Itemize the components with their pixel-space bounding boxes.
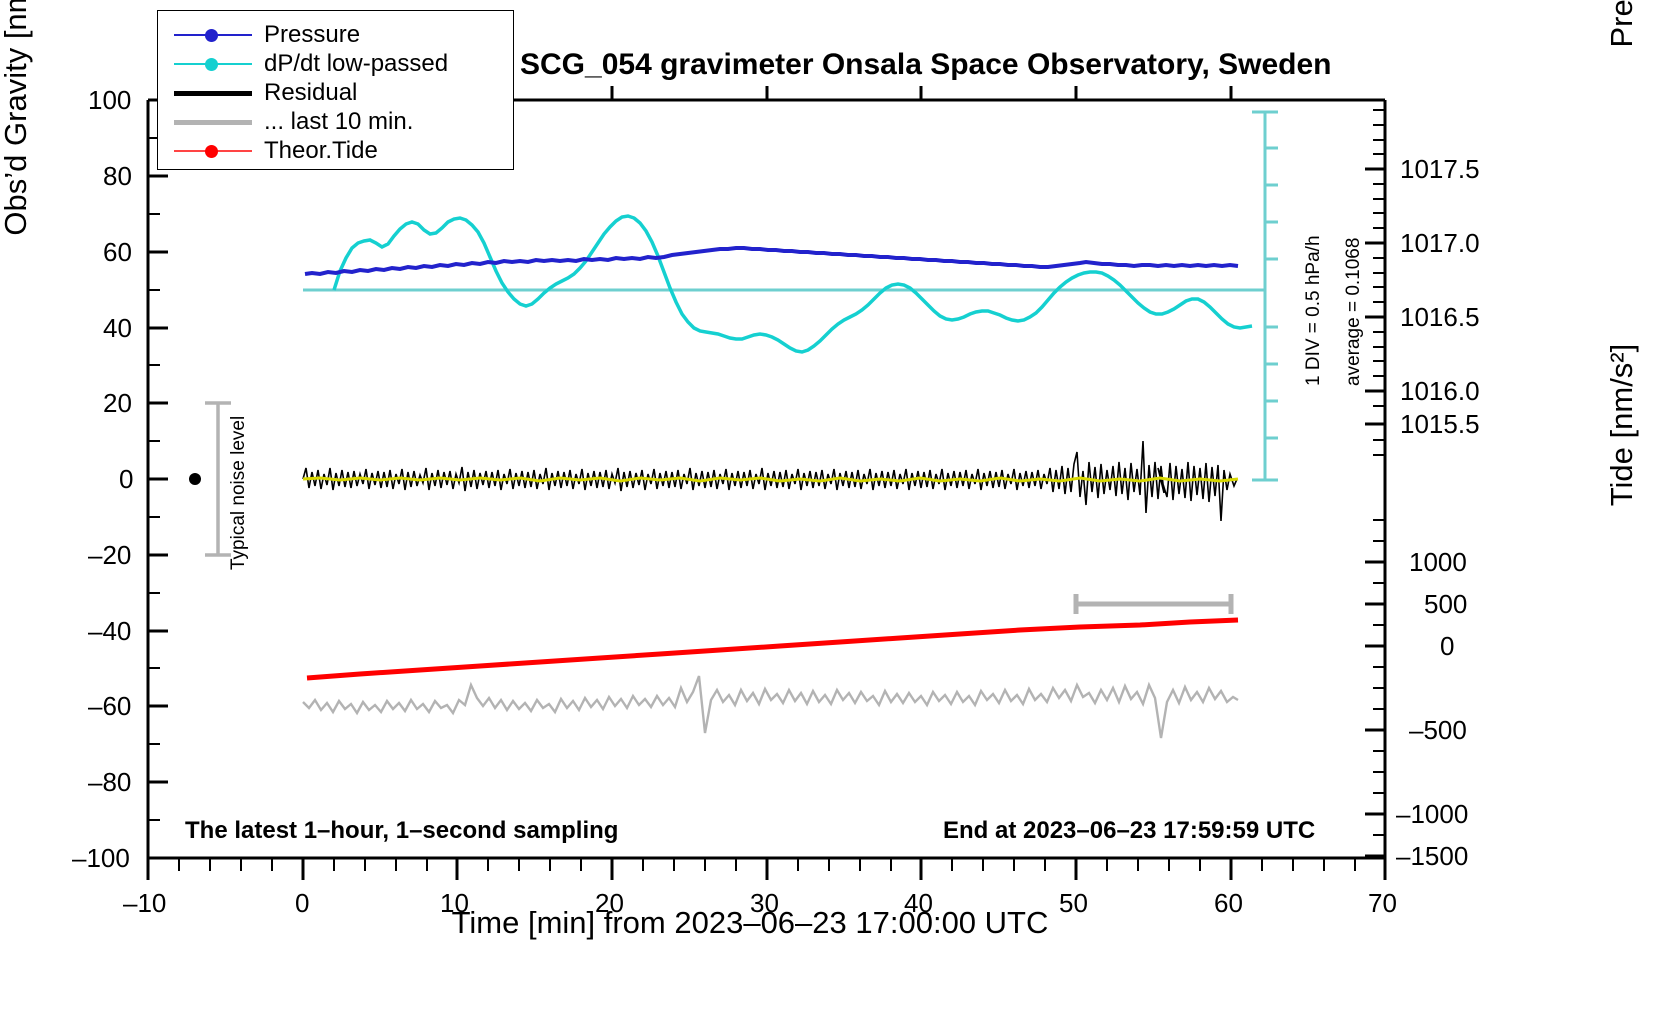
y-tick-pressure-1017-0: 1017.0 bbox=[1400, 228, 1480, 259]
sampling-annotation: The latest 1–hour, 1–second sampling bbox=[185, 817, 618, 845]
series-residual-smoothed bbox=[303, 478, 1238, 481]
legend-swatch-residual bbox=[174, 83, 252, 103]
legend-swatch-theor-tide bbox=[174, 141, 252, 161]
y-axis-right-pressure-label: Pressure [hPa] bbox=[1604, 0, 1640, 110]
plot-root: SCG_054 gravimeter Onsala Space Observat… bbox=[0, 0, 1660, 1020]
y-tick-pressure-1016-0: 1016.0 bbox=[1400, 376, 1480, 407]
legend-item-dpdt: dP/dt low-passed bbox=[174, 49, 513, 78]
y-axis-right-tide-label: Tide [nm/s²] bbox=[1604, 285, 1640, 565]
y-tick-left-40: 40 bbox=[103, 313, 132, 344]
legend-swatch-last10 bbox=[174, 112, 252, 132]
y-tick-left-m20: –20 bbox=[88, 540, 131, 571]
y-tick-left-m60: –60 bbox=[88, 691, 131, 722]
legend-swatch-dpdt bbox=[174, 54, 252, 74]
y-tick-tide-0: 0 bbox=[1440, 631, 1454, 662]
legend-item-residual: Residual bbox=[174, 78, 513, 107]
legend-label-last10: ... last 10 min. bbox=[264, 108, 413, 136]
end-time-annotation: End at 2023–06–23 17:59:59 UTC bbox=[943, 817, 1315, 845]
y-tick-left-m40: –40 bbox=[88, 616, 131, 647]
legend-item-pressure: Pressure bbox=[174, 20, 513, 49]
series-dpdt-lowpassed bbox=[334, 216, 1252, 352]
legend-item-last10: ... last 10 min. bbox=[174, 107, 513, 136]
dpdt-scale-bar bbox=[1252, 112, 1278, 480]
legend-label-residual: Residual bbox=[264, 79, 357, 107]
y-tick-pressure-1015-5: 1015.5 bbox=[1400, 409, 1480, 440]
legend-label-dpdt: dP/dt low-passed bbox=[264, 50, 448, 78]
y-tick-tide-500: 500 bbox=[1424, 589, 1467, 620]
y-tick-left-m80: –80 bbox=[88, 767, 131, 798]
y-tick-left-60: 60 bbox=[103, 237, 132, 268]
y-tick-left-100: 100 bbox=[88, 85, 131, 116]
y-tick-tide-m1000: –1000 bbox=[1396, 799, 1468, 830]
y-tick-tide-m500: –500 bbox=[1409, 715, 1467, 746]
average-label: average = 0.1068 bbox=[1343, 238, 1365, 386]
y-axis-right-tide-minor bbox=[1373, 520, 1385, 835]
y-tick-pressure-1017-5: 1017.5 bbox=[1400, 154, 1480, 185]
y-tick-tide-m1500: –1500 bbox=[1396, 841, 1468, 872]
y-tick-left-80: 80 bbox=[103, 161, 132, 192]
legend-label-theor-tide: Theor.Tide bbox=[264, 137, 378, 165]
y-axis-right-pressure-minor bbox=[1373, 110, 1385, 455]
noise-level-dot bbox=[189, 473, 201, 485]
x-axis-label: Time [min] from 2023–06–23 17:00:00 UTC bbox=[0, 905, 1500, 941]
page-title: SCG_054 gravimeter Onsala Space Observat… bbox=[520, 48, 1332, 82]
series-pressure bbox=[305, 248, 1238, 274]
y-axis-right-pressure-ticks bbox=[1365, 169, 1385, 424]
last-10-min-span-bar bbox=[1076, 594, 1231, 614]
series-theor-tide bbox=[307, 620, 1238, 678]
legend-label-pressure: Pressure bbox=[264, 21, 360, 49]
legend-swatch-pressure bbox=[174, 25, 252, 45]
y-tick-tide-1000: 1000 bbox=[1409, 547, 1467, 578]
div-scale-label: 1 DIV = 0.5 hPa/h bbox=[1303, 235, 1325, 386]
y-tick-pressure-1016-5: 1016.5 bbox=[1400, 302, 1480, 333]
series-last-10-min bbox=[303, 676, 1238, 738]
y-tick-left-m100: –100 bbox=[72, 843, 130, 874]
y-axis-left-label: Obs’d Gravity [nm/s²] bbox=[0, 0, 34, 300]
y-tick-left-20: 20 bbox=[103, 388, 132, 419]
legend: Pressure dP/dt low-passed Residual ... l… bbox=[157, 10, 514, 170]
typical-noise-level-label: Typical noise level bbox=[228, 416, 250, 570]
y-tick-left-0: 0 bbox=[119, 464, 133, 495]
legend-item-theor-tide: Theor.Tide bbox=[174, 136, 513, 165]
